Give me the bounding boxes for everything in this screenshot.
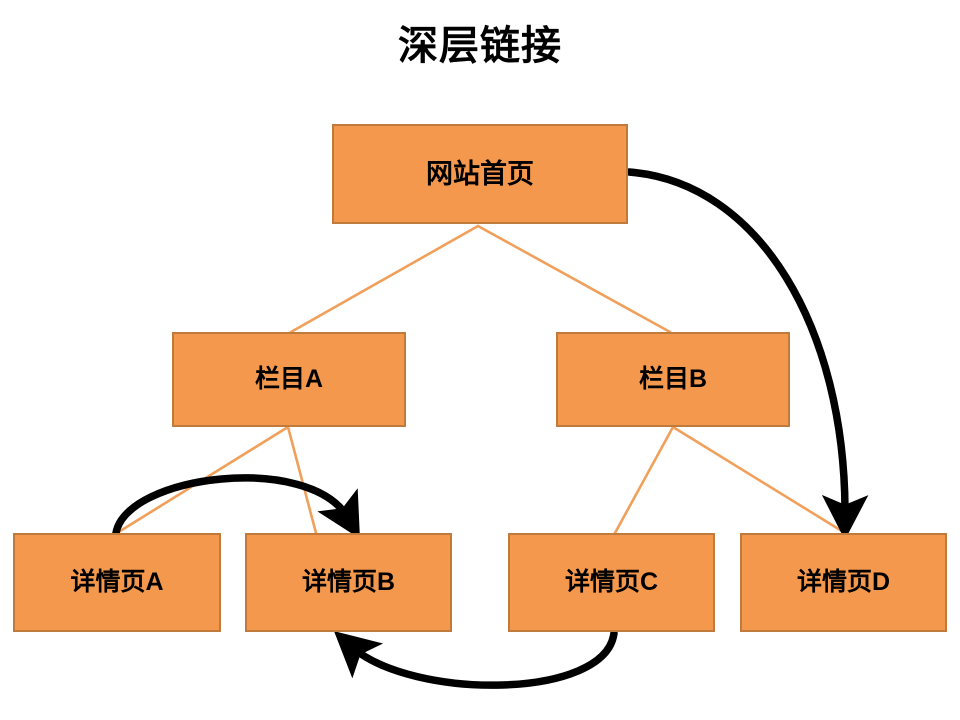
deep-link-group (116, 172, 845, 685)
node-detail-c-label: 详情页C (565, 570, 658, 595)
tree-link-home-to-sec-b (478, 226, 670, 332)
node-detail-d-label: 详情页D (797, 570, 890, 595)
page-title: 深层链接 (0, 22, 960, 70)
tree-link-sec-b-to-det-d (673, 427, 845, 533)
node-detail-d[interactable]: 详情页D (740, 533, 947, 632)
node-section-b-label: 栏目B (639, 367, 707, 392)
tree-link-home-to-sec-a (291, 226, 478, 332)
diagram-canvas: 深层链接 网站首页 栏目A 栏目B 详情页A (0, 0, 960, 720)
node-section-a[interactable]: 栏目A (172, 332, 406, 427)
tree-link-sec-a-to-det-b (288, 427, 316, 533)
node-section-a-label: 栏目A (255, 367, 323, 392)
node-detail-b[interactable]: 详情页B (245, 533, 452, 632)
tree-link-sec-a-to-det-a (117, 427, 288, 533)
tree-link-sec-b-to-det-c (615, 427, 673, 533)
node-detail-a[interactable]: 详情页A (13, 533, 221, 632)
node-home-label: 网站首页 (426, 161, 534, 188)
deep-link-det-a-to-det-b (116, 478, 348, 533)
node-detail-b-label: 详情页B (302, 570, 395, 595)
node-section-b[interactable]: 栏目B (556, 332, 790, 427)
node-detail-a-label: 详情页A (70, 570, 163, 595)
deep-link-det-c-to-det-b (352, 633, 614, 685)
node-detail-c[interactable]: 详情页C (508, 533, 715, 632)
node-home[interactable]: 网站首页 (332, 124, 628, 224)
